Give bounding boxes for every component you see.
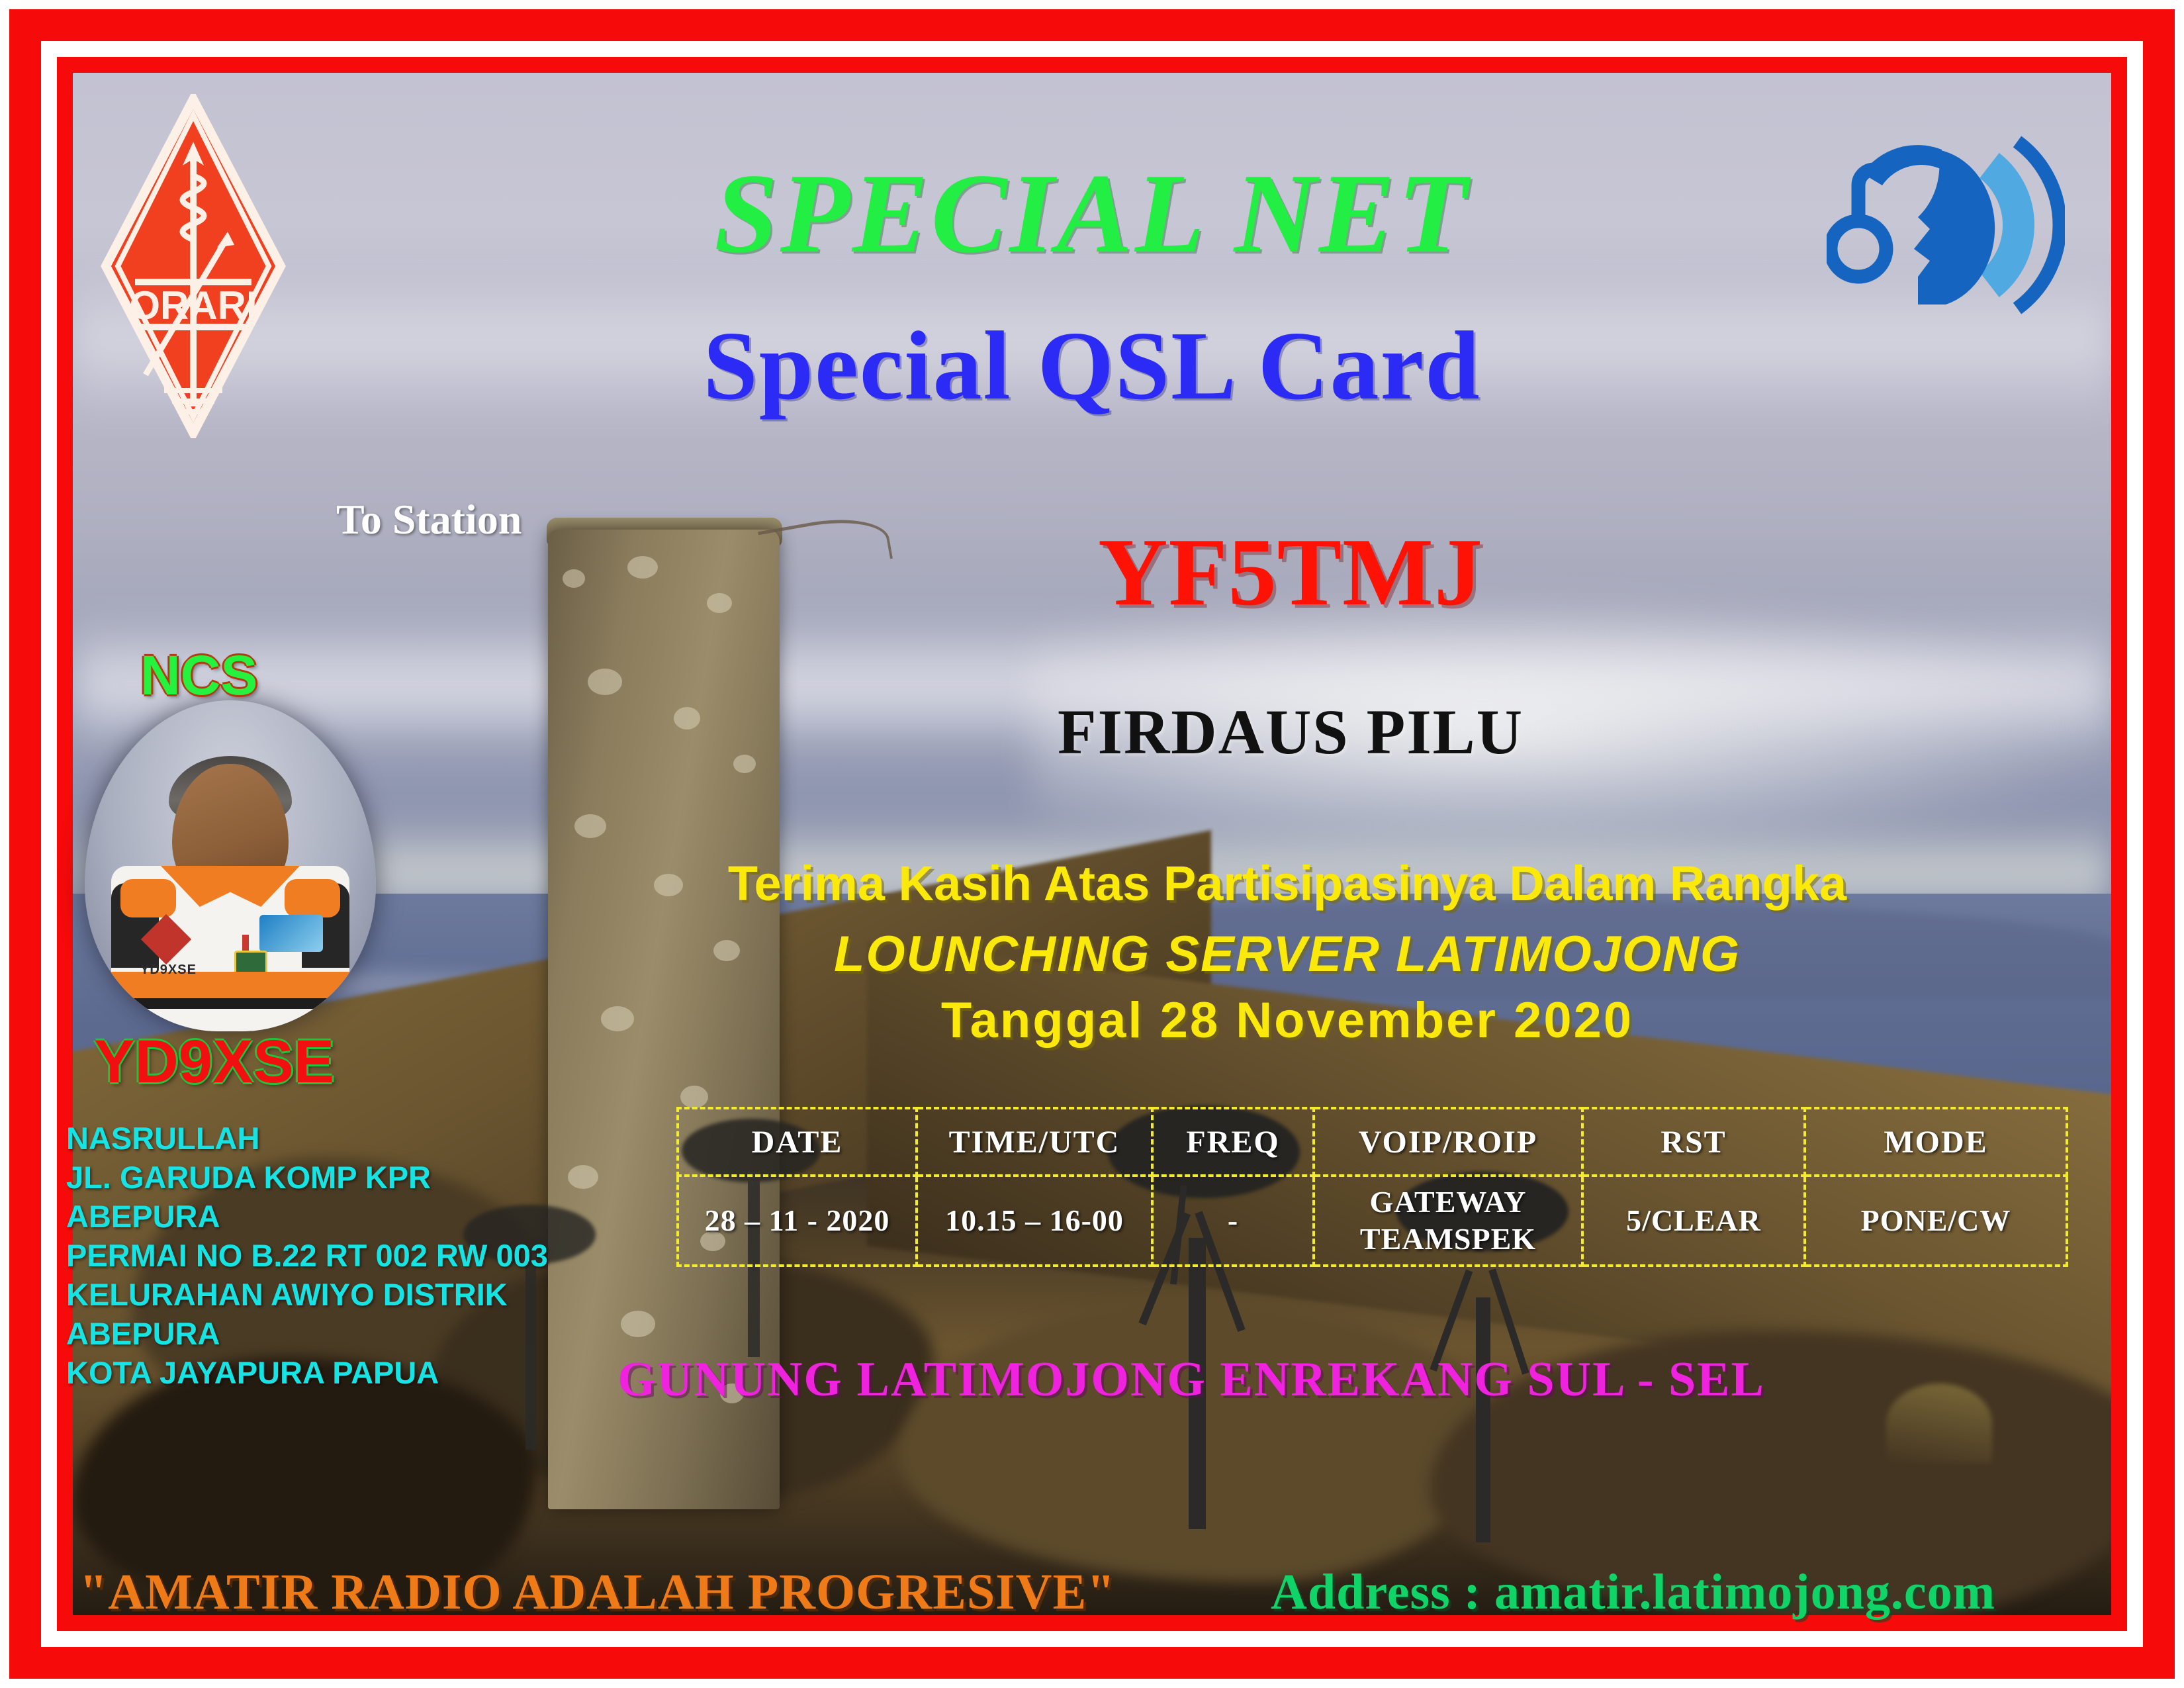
table-row: 28 – 11 - 2020 10.15 – 16-00 - GATEWAY T… xyxy=(678,1176,2067,1266)
station-callsign: YF5TMJ xyxy=(199,516,2184,628)
cell-voip: GATEWAY TEAMSPEK xyxy=(1314,1176,1582,1266)
cell-voip-line2: TEAMSPEK xyxy=(1316,1221,1580,1258)
qsl-card: ORARI xyxy=(0,0,2184,1688)
page-subtitle: Special QSL Card xyxy=(0,310,2184,422)
thanks-line-1: Terima Kasih Atas Partisipasinya Dalam R… xyxy=(195,855,2184,912)
cell-voip-line1: GATEWAY xyxy=(1316,1184,1580,1221)
cell-rst: 5/CLEAR xyxy=(1582,1176,1805,1266)
table-header-time: TIME/UTC xyxy=(917,1108,1152,1176)
address-line: ABEPURA xyxy=(66,1197,548,1236)
cell-time: 10.15 – 16-00 xyxy=(917,1176,1152,1266)
address-line: NASRULLAH xyxy=(66,1119,548,1158)
table-header-voip: VOIP/ROIP xyxy=(1314,1108,1582,1176)
address-line: KELURAHAN AWIYO DISTRIK xyxy=(66,1275,548,1314)
location-line: GUNUNG LATIMOJONG ENREKANG SUL - SEL xyxy=(99,1352,2184,1408)
thanks-line-3: Tanggal 28 November 2020 xyxy=(195,992,2184,1049)
cell-date: 28 – 11 - 2020 xyxy=(678,1176,917,1266)
address-line: JL. GARUDA KOMP KPR xyxy=(66,1158,548,1197)
table-header-date: DATE xyxy=(678,1108,917,1176)
uniform-sleeve-left xyxy=(120,879,176,917)
table-header-mode: MODE xyxy=(1805,1108,2067,1176)
table-header-row: DATE TIME/UTC FREQ VOIP/ROIP RST MODE xyxy=(678,1108,2067,1176)
cell-mode: PONE/CW xyxy=(1805,1176,2067,1266)
page-title: SPECIAL NET xyxy=(0,149,2184,279)
cell-freq: - xyxy=(1152,1176,1314,1266)
uniform-callsign-text: YD9XSE xyxy=(140,962,197,978)
table-header-rst: RST xyxy=(1582,1108,1805,1176)
web-address-text: Address : amatir.latimojong.com xyxy=(1271,1564,1995,1621)
thanks-line-2: LOUNCHING SERVER LATIMOJONG xyxy=(195,925,2184,983)
address-line: ABEPURA xyxy=(66,1314,548,1353)
qso-log-table: DATE TIME/UTC FREQ VOIP/ROIP RST MODE 28… xyxy=(676,1107,2068,1267)
table-header-freq: FREQ xyxy=(1152,1108,1314,1176)
motto-text: "AMATIR RADIO ADALAH PROGRESIVE" xyxy=(79,1564,1115,1621)
address-line: PERMAI NO B.22 RT 002 RW 003 xyxy=(66,1236,548,1275)
operator-name: FIRDAUS PILU xyxy=(199,695,2184,769)
